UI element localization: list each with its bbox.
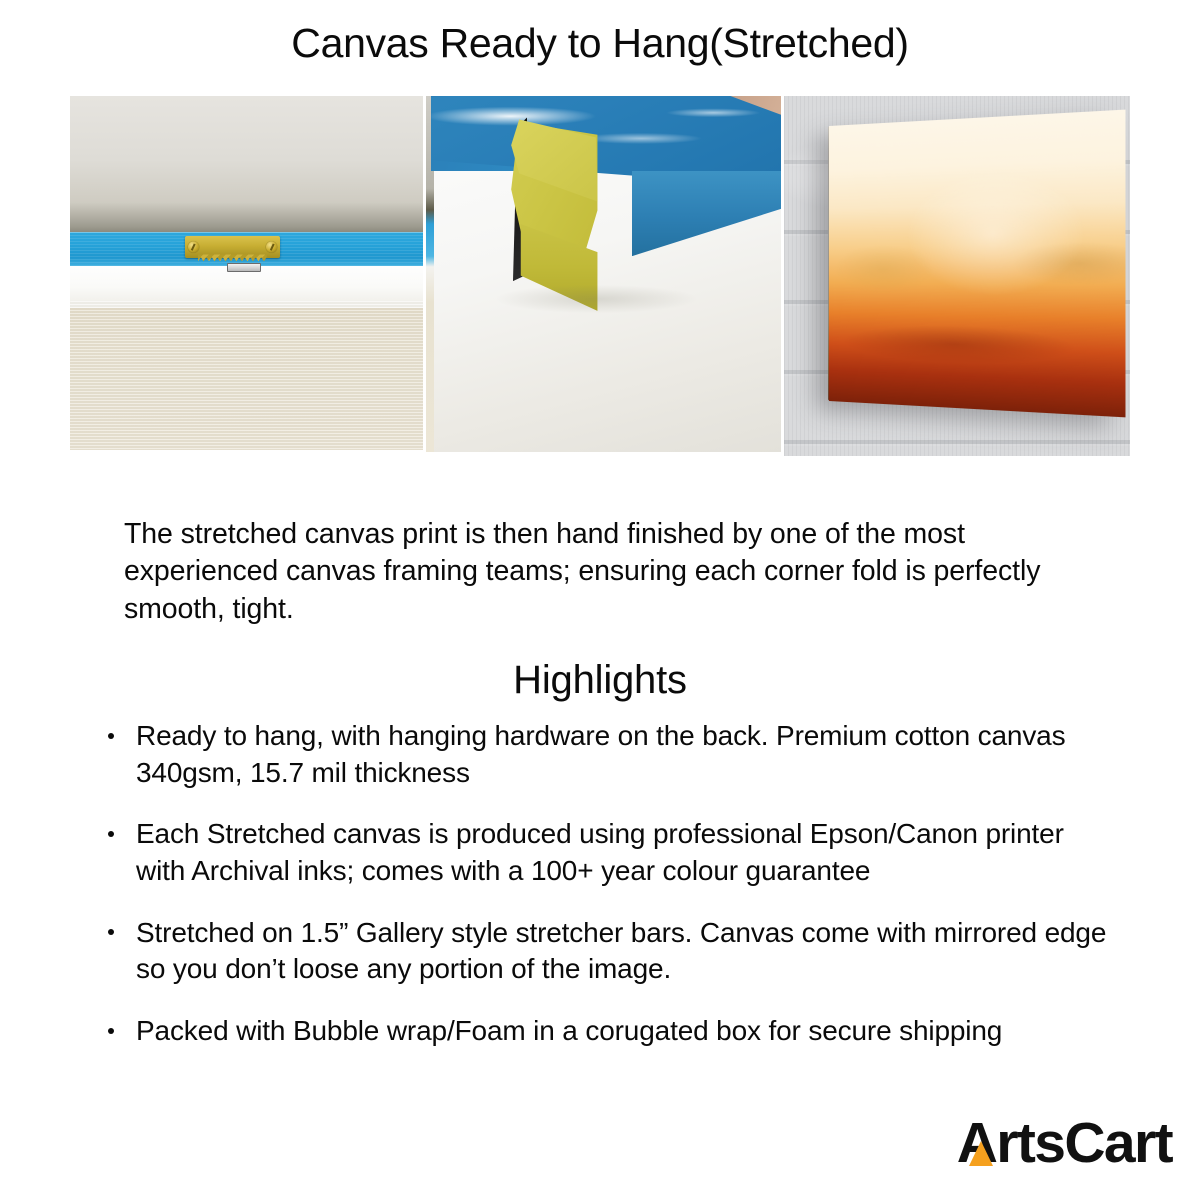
canvas-sunset-landscape-print <box>829 109 1125 417</box>
highlights-heading: Highlights <box>0 658 1200 703</box>
list-item: Packed with Bubble wrap/Foam in a coruga… <box>100 1013 1110 1050</box>
page-title: Canvas Ready to Hang(Stretched) <box>0 0 1200 66</box>
screw-left-icon <box>188 242 199 253</box>
bullet-dot-icon <box>108 733 114 739</box>
product-image-gallery <box>70 96 1130 456</box>
list-item: Each Stretched canvas is produced using … <box>100 816 1110 889</box>
list-item: Ready to hang, with hanging hardware on … <box>100 718 1110 791</box>
gallery-image-canvas-corner-fold[interactable] <box>426 96 781 452</box>
gallery-image-canvas-hanging-on-wood-wall[interactable] <box>784 96 1130 456</box>
list-item-label: Ready to hang, with hanging hardware on … <box>136 720 1065 788</box>
bullet-dot-icon <box>108 929 114 935</box>
gallery-image-canvas-back-hanging-hardware[interactable] <box>70 96 423 450</box>
screw-right-icon <box>266 242 277 253</box>
canvas-linen-surface <box>70 298 423 450</box>
list-item-label: Packed with Bubble wrap/Foam in a coruga… <box>136 1015 1002 1046</box>
corner-drop-shadow <box>497 285 696 313</box>
highlights-list: Ready to hang, with hanging hardware on … <box>100 718 1110 1075</box>
brand-logo[interactable]: ArtsCart <box>957 1108 1172 1172</box>
bullet-dot-icon <box>108 831 114 837</box>
triangle-mark-icon <box>969 1141 993 1166</box>
bullet-dot-icon <box>108 1028 114 1034</box>
intro-paragraph: The stretched canvas print is then hand … <box>124 516 1070 630</box>
list-item-label: Each Stretched canvas is produced using … <box>136 818 1064 886</box>
sawtooth-hanger-icon <box>185 236 280 258</box>
list-item: Stretched on 1.5” Gallery style stretche… <box>100 915 1110 988</box>
list-item-label: Stretched on 1.5” Gallery style stretche… <box>136 917 1106 985</box>
canvas-clip <box>227 263 261 272</box>
